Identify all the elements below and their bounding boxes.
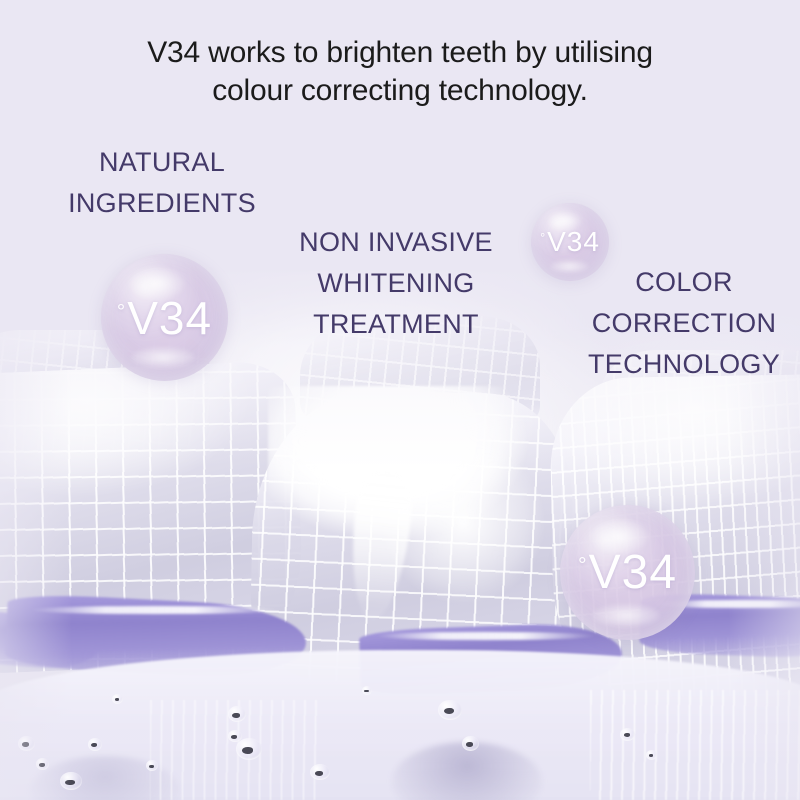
bubble-lower-gloss-icon	[592, 604, 660, 627]
water-droplet	[112, 694, 123, 704]
water-droplet	[146, 760, 158, 771]
feature-label-non-invasive-whitening-treatment: NON INVASIVE WHITENING TREATMENT	[272, 222, 520, 345]
water-droplet	[362, 686, 372, 695]
water-droplet	[438, 700, 462, 720]
v34-label: V34	[589, 546, 677, 599]
v34-dot-icon: °	[540, 231, 546, 245]
teeth-photo-background	[0, 0, 800, 800]
water-droplet	[620, 728, 635, 741]
feature-label-natural-ingredients: NATURAL INGREDIENTS	[22, 142, 302, 224]
water-droplet	[18, 736, 35, 751]
water-droplet	[36, 758, 49, 770]
gel-shine-left	[30, 606, 280, 614]
water-droplet	[236, 738, 262, 760]
bubble-lower-gloss-icon	[131, 347, 195, 369]
v34-bubble-left: °V34	[101, 254, 228, 381]
v34-label: V34	[127, 292, 212, 344]
water-droplet	[60, 772, 82, 790]
feature-label-color-correction-technology: COLOR CORRECTION TECHNOLOGY	[566, 262, 800, 385]
v34-label: V34	[547, 226, 600, 257]
water-droplet	[88, 738, 102, 751]
gel-shine-center	[376, 632, 596, 640]
v34-dot-icon: °	[578, 552, 588, 577]
page-title: V34 works to brighten teeth by utilising…	[0, 34, 800, 110]
v34-bubble-top: °V34	[531, 203, 609, 281]
toothpaste-foam-blob	[268, 386, 564, 638]
water-droplet	[462, 736, 479, 751]
v34-brand-text: °V34	[117, 291, 212, 345]
water-droplet	[228, 706, 246, 722]
water-droplet	[646, 750, 657, 760]
v34-brand-text: °V34	[578, 545, 677, 600]
water-droplet	[228, 730, 242, 742]
reflection-streaks-right	[590, 690, 800, 800]
v34-brand-text: °V34	[540, 226, 600, 258]
v34-dot-icon: °	[117, 300, 126, 323]
product-infographic-poster: V34 works to brighten teeth by utilising…	[0, 0, 800, 800]
bubble-lower-gloss-icon	[550, 260, 589, 273]
water-droplet	[310, 764, 330, 780]
v34-bubble-right: °V34	[560, 505, 695, 640]
